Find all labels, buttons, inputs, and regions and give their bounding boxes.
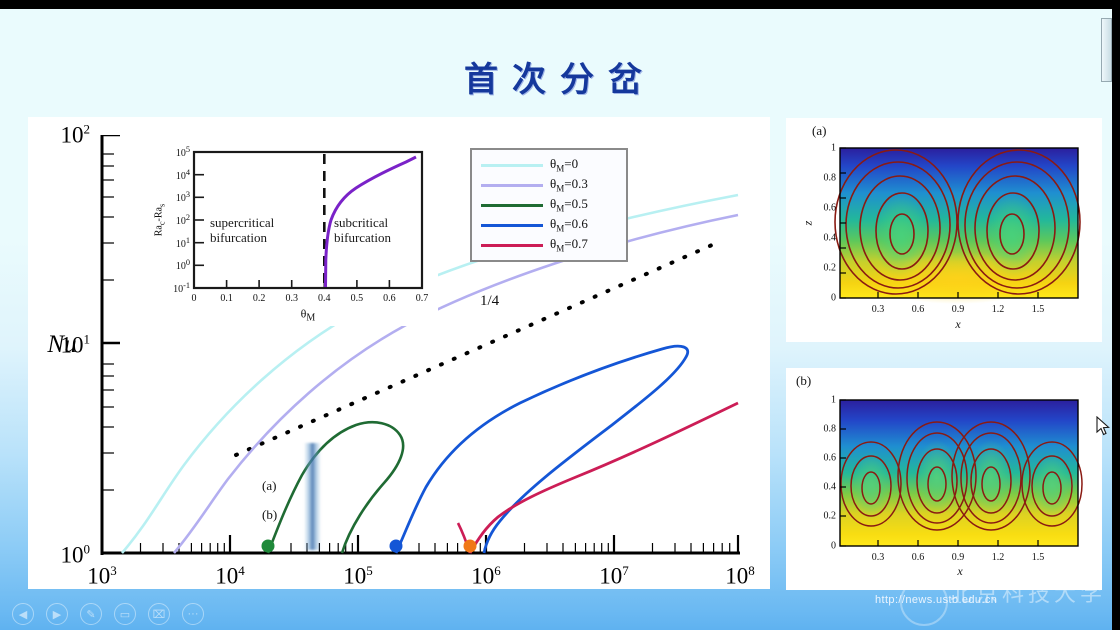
panel-b-y-tick-0p6: 0.6: [824, 453, 837, 464]
inset-x-tick-0: 0: [192, 293, 197, 304]
presentation-toolbar: ◀ ▶ ✎ ▭ ⌧ ···: [0, 596, 1120, 630]
marker-thetaM-0p7: [464, 540, 477, 553]
prev-slide-button[interactable]: ◀: [12, 603, 34, 625]
x-tick-1e4: 104: [215, 563, 245, 590]
panel-a-x-tick-0p6: 0.6: [912, 304, 925, 315]
legend-item-3[interactable]: θM=0.6: [476, 215, 622, 235]
inset-x-tick-0p3: 0.3: [285, 293, 298, 304]
inset-x-tick-0p7: 0.7: [416, 293, 429, 304]
legend-item-1[interactable]: θM=0.3: [476, 175, 622, 195]
inset-label-subcritical: subcritical bifurcation: [334, 216, 391, 246]
y-axis-label: Nu: [47, 331, 76, 359]
mouse-cursor: [1096, 416, 1110, 436]
page-title: 首次分岔: [0, 52, 1120, 101]
panel-a-y-tick-1: 1: [831, 143, 836, 154]
main-figure: 102 101 100 Nu 103 104 105 106 107 108 R…: [28, 117, 770, 589]
inset-x-tick-0p1: 0.1: [220, 293, 233, 304]
legend-label-0: θM=0: [550, 156, 578, 174]
top-black-border: [0, 0, 1120, 9]
inset-label-supercritical-l2: bifurcation: [210, 230, 267, 245]
x-tick-1e6: 106: [471, 563, 501, 590]
laser-pointer-highlight: [304, 443, 321, 550]
x-tick-1e5: 105: [343, 563, 373, 590]
slope-annotation: 1/4: [480, 293, 499, 310]
inset-y-tick-1e1: 101: [176, 236, 190, 250]
legend-item-0[interactable]: θM=0: [476, 155, 622, 175]
panel-b-x-tick-1p5: 1.5: [1032, 552, 1045, 563]
panel-b-y-tick-1: 1: [831, 395, 836, 406]
panel-b-x-tick-1p2: 1.2: [992, 552, 1005, 563]
panel-b-y-tick-0p2: 0.2: [824, 511, 837, 522]
legend-item-2[interactable]: θM=0.5: [476, 195, 622, 215]
legend-swatch-0: [481, 164, 543, 167]
panel-a-y-axis-label: z: [801, 221, 816, 226]
curve-thetaM-0p6: [396, 346, 688, 553]
legend-label-4: θM=0.7: [550, 236, 588, 254]
inset-label-subcritical-l2: bifurcation: [334, 230, 391, 245]
annotation-b: (b): [262, 507, 277, 523]
inset-x-tick-0p2: 0.2: [253, 293, 266, 304]
next-slide-button[interactable]: ▶: [46, 603, 68, 625]
curve-thetaM-0p7: [470, 403, 738, 553]
inset-chart: 105 104 103 102 101 100 10-1 0 0.1 0.2 0…: [148, 148, 438, 326]
x-tick-1e3: 103: [87, 563, 117, 590]
legend-swatch-1: [481, 184, 543, 187]
annotation-a: (a): [262, 478, 276, 494]
panel-a-x-tick-0p3: 0.3: [872, 304, 885, 315]
marker-thetaM-0p5: [262, 540, 275, 553]
inset-x-tick-0p4: 0.4: [318, 293, 331, 304]
inset-x-axis-label: θM: [301, 306, 316, 323]
y-tick-1e2: 102: [28, 122, 90, 149]
inset-label-supercritical-l1: supercritical: [210, 215, 274, 230]
inset-y-tick-1e5: 105: [176, 145, 190, 159]
panel-a: (a): [786, 118, 1102, 342]
panel-a-x-tick-1p2: 1.2: [992, 304, 1005, 315]
inset-y-tick-1e2: 102: [176, 213, 190, 227]
panel-b-y-tick-0p8: 0.8: [824, 424, 837, 435]
legend-swatch-2: [481, 204, 543, 207]
y-tick-1e0: 100: [28, 542, 90, 569]
inset-x-tick-0p6: 0.6: [383, 293, 396, 304]
panel-a-y-tick-0p2: 0.2: [824, 263, 837, 274]
panel-a-x-tick-1p5: 1.5: [1032, 304, 1045, 315]
zoom-icon[interactable]: ⌧: [148, 603, 170, 625]
legend-swatch-3: [481, 224, 543, 227]
legend-swatch-4: [481, 244, 543, 247]
inset-y-axis-label: Rac-Ras: [154, 204, 167, 237]
panel-b-y-tick-0p4: 0.4: [824, 482, 837, 493]
panel-b-x-tick-0p3: 0.3: [872, 552, 885, 563]
panel-a-y-tick-0p8: 0.8: [824, 173, 837, 184]
panel-b-x-tick-0p6: 0.6: [912, 552, 925, 563]
marker-thetaM-0p6: [390, 540, 403, 553]
legend-label-2: θM=0.5: [550, 196, 588, 214]
slide-grid-icon[interactable]: ▭: [114, 603, 136, 625]
panel-a-x-tick-0p9: 0.9: [952, 304, 965, 315]
more-options-icon[interactable]: ···: [182, 603, 204, 625]
panel-b: (b): [786, 368, 1102, 590]
panel-b-x-tick-0p9: 0.9: [952, 552, 965, 563]
inset-y-tick-1e3: 103: [176, 190, 190, 204]
presentation-slide: 首次分岔 102 101 100 Nu 103 104 105 106 107 …: [0, 0, 1120, 630]
panel-a-y-tick-0p4: 0.4: [824, 233, 837, 244]
legend-label-1: θM=0.3: [550, 176, 588, 194]
inset-x-tick-0p5: 0.5: [351, 293, 364, 304]
inset-y-tick-1em1: 10-1: [173, 281, 190, 295]
panel-a-x-axis-label: x: [955, 317, 960, 332]
inset-y-tick-1e4: 104: [176, 168, 190, 182]
pen-icon[interactable]: ✎: [80, 603, 102, 625]
curve-thetaM-0p5: [268, 422, 403, 553]
legend-label-3: θM=0.6: [550, 216, 588, 234]
panel-a-y-tick-0p6: 0.6: [824, 203, 837, 214]
x-tick-1e8: 108: [725, 563, 755, 590]
inset-label-subcritical-l1: subcritical: [334, 215, 388, 230]
panel-a-y-tick-0: 0: [831, 293, 836, 304]
panel-b-y-tick-0: 0: [831, 541, 836, 552]
inset-y-tick-1e0: 100: [176, 258, 190, 272]
legend-item-4[interactable]: θM=0.7: [476, 235, 622, 255]
legend: θM=0 θM=0.3 θM=0.5 θM=0.6 θM=0.7: [470, 148, 628, 262]
x-tick-1e7: 107: [599, 563, 629, 590]
inset-label-supercritical: supercritical bifurcation: [210, 216, 274, 246]
